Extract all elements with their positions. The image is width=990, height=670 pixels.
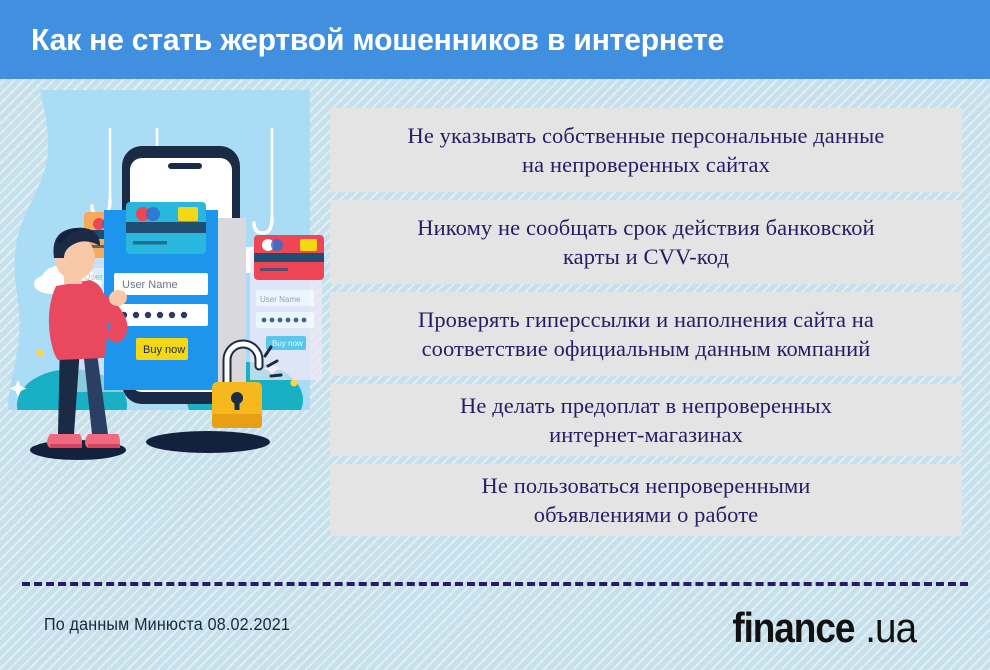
footer-divider (22, 582, 968, 586)
tip-line: соответствие официальным данным компаний (422, 336, 871, 361)
tip-line: Не указывать собственные персональные да… (408, 123, 885, 148)
finance-ua-logo[interactable]: finance.ua (724, 604, 918, 652)
tip-line: интернет-магазинах (549, 422, 743, 447)
tip-text: Не пользоваться непроверенными объявлени… (482, 471, 811, 530)
side-card-username-label: User Name (260, 295, 301, 304)
credit-card-cyan (126, 202, 206, 254)
page-title: Как не стать жертвой мошенников в интерн… (0, 22, 724, 58)
credit-card-red (254, 235, 324, 280)
side-card-buy-label: Buy now (272, 339, 303, 348)
logo-name: finance (732, 604, 854, 652)
tip-line: Проверять гиперссылки и наполнения сайта… (418, 307, 874, 332)
tip-text: Не указывать собственные персональные да… (408, 121, 885, 180)
tip-line: на непроверенных сайтах (522, 152, 770, 177)
tip-line: Не пользоваться непроверенными (482, 473, 811, 498)
tip-item: Проверять гиперссылки и наполнения сайта… (330, 292, 962, 376)
tip-item: Не делать предоплат в непроверенных инте… (330, 384, 962, 456)
header-bar: Как не стать жертвой мошенников в интерн… (0, 0, 990, 79)
form-username-label: User Name (122, 279, 178, 291)
phone-shadow (146, 431, 270, 453)
form-buy-now-label: Buy now (143, 344, 185, 356)
tip-text: Не делать предоплат в непроверенных инте… (460, 391, 832, 450)
infographic-root: Как не стать жертвой мошенников в интерн… (0, 0, 990, 670)
source-note: По данным Минюста 08.02.2021 (44, 614, 290, 635)
tips-list: Не указывать собственные персональные да… (330, 108, 962, 544)
tip-item: Не пользоваться непроверенными объявлени… (330, 464, 962, 536)
tip-item: Никому не сообщать срок действия банковс… (330, 200, 962, 284)
tip-text: Никому не сообщать срок действия банковс… (417, 213, 874, 272)
tip-line: Не делать предоплат в непроверенных (460, 393, 832, 418)
logo-tld: .ua (865, 604, 916, 652)
tip-text: Проверять гиперссылки и наполнения сайта… (418, 305, 874, 364)
phishing-illustration: User Name Buy now (0, 90, 325, 480)
tip-item: Не указывать собственные персональные да… (330, 108, 962, 192)
tip-line: Никому не сообщать срок действия банковс… (417, 215, 874, 240)
tip-line: карты и CVV-код (563, 244, 729, 269)
tip-line: объявлениями о работе (534, 502, 758, 527)
